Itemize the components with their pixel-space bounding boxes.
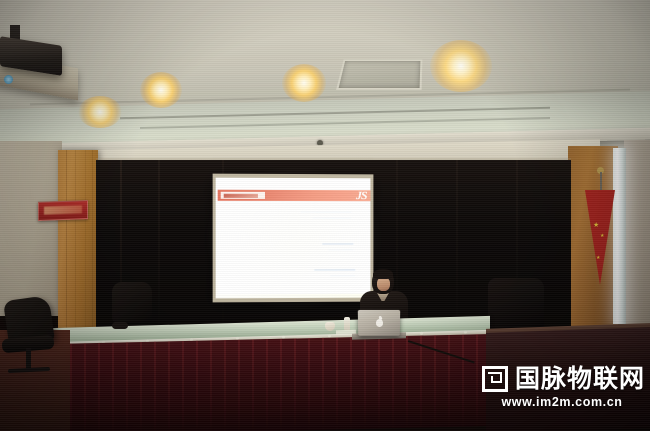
right-table: [486, 327, 650, 431]
apple-logo-icon: [376, 319, 383, 327]
flag-star-icon: ★: [596, 255, 600, 262]
ceiling-air-vent: [336, 59, 422, 90]
office-chair-post: [26, 348, 31, 370]
desk-device: [112, 322, 128, 329]
recessed-downlight-icon: [140, 72, 182, 108]
recessed-downlight-icon: [430, 40, 492, 92]
recessed-downlight-icon: [78, 96, 122, 128]
left-wall: [0, 141, 62, 316]
flag-star-icon: ★: [600, 233, 604, 240]
projection-screen: JS: [213, 174, 374, 303]
audience-chair: [488, 278, 544, 330]
slide-header-tab-label: [224, 193, 258, 197]
conference-room-photo: ★ ★ ★ JS: [0, 0, 650, 431]
right-wall: [624, 140, 650, 330]
slide-header-tab: [221, 192, 265, 199]
red-wall-sign-text: [44, 205, 82, 214]
projection-screen-surface: JS: [216, 178, 371, 299]
slide-body: [218, 201, 371, 295]
projector-lens-icon: [4, 75, 13, 84]
stage-chair: [112, 282, 152, 322]
slide-header-bar: JS: [218, 190, 371, 201]
presenter-face: [377, 277, 390, 291]
red-wall-sign: [38, 200, 88, 221]
flag-star-icon: ★: [593, 222, 599, 229]
wooden-pillar: [58, 150, 98, 328]
presenter-hair: [373, 269, 393, 279]
macbook-laptop: [358, 310, 400, 336]
recessed-downlight-icon: [282, 64, 326, 102]
slide-content: JS: [216, 178, 371, 299]
water-bottle: [344, 317, 350, 330]
